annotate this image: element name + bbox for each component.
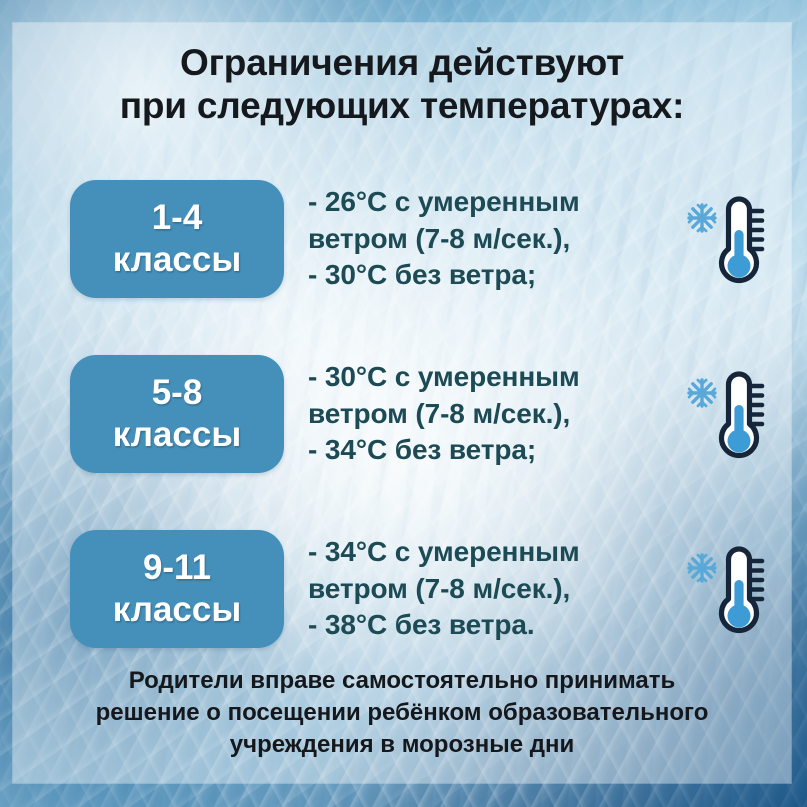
description-line: - 30°C с умеренным	[308, 359, 679, 395]
description-line: ветром (7-8 м/сек.),	[308, 396, 679, 432]
thermometer-snowflake-icon	[679, 362, 783, 466]
thermometer-glyph	[722, 549, 763, 631]
grade-word-label: классы	[113, 417, 241, 453]
description-line: - 34°C с умеренным	[308, 534, 679, 570]
thermometer-glyph	[722, 374, 763, 456]
description-line: - 34°C без ветра;	[308, 432, 679, 468]
description-line: ветром (7-8 м/сек.),	[308, 571, 679, 607]
grade-range-label: 1-4	[152, 200, 203, 236]
temperature-description-2: - 30°C с умеренным ветром (7-8 м/сек.), …	[284, 359, 679, 468]
temperature-description-3: - 34°C с умеренным ветром (7-8 м/сек.), …	[284, 534, 679, 643]
footer-note: Родители вправе самостоятельно принимать…	[13, 665, 791, 761]
description-line: - 38°C без ветра.	[308, 607, 679, 643]
snowflake-icon	[689, 555, 715, 581]
grade-badge-5-8[interactable]: 5-8 классы	[70, 355, 284, 473]
table-row: 1-4 классы - 26°C с умеренным ветром (7-…	[13, 165, 791, 313]
grade-range-label: 5-8	[152, 375, 203, 411]
grade-badge-9-11[interactable]: 9-11 классы	[70, 530, 284, 648]
thermometer-snowflake-icon	[679, 187, 783, 291]
footer-line-2: решение о посещении ребёнком образовател…	[27, 697, 777, 729]
snowflake-icon	[689, 380, 715, 406]
thermometer-glyph	[722, 199, 763, 281]
temperature-description-1: - 26°C с умеренным ветром (7-8 м/сек.), …	[284, 184, 679, 293]
snowflake-icon	[689, 205, 715, 231]
page-title-line-1: Ограничения действуют	[27, 41, 777, 84]
description-line: ветром (7-8 м/сек.),	[308, 221, 679, 257]
content-panel: Ограничения действуют при следующих темп…	[13, 23, 791, 783]
description-line: - 30°C без ветра;	[308, 257, 679, 293]
page-title: Ограничения действуют при следующих темп…	[13, 41, 791, 128]
grade-word-label: классы	[113, 592, 241, 628]
thermometer-snowflake-icon	[679, 537, 783, 641]
footer-line-3: учреждения в морозные дни	[27, 729, 777, 761]
description-line: - 26°C с умеренным	[308, 184, 679, 220]
temperature-rows: 1-4 классы - 26°C с умеренным ветром (7-…	[13, 165, 791, 663]
infographic-poster: Ограничения действуют при следующих темп…	[0, 0, 807, 807]
page-title-line-2: при следующих температурах:	[27, 84, 777, 127]
footer-line-1: Родители вправе самостоятельно принимать	[27, 665, 777, 697]
table-row: 5-8 классы - 30°C с умеренным ветром (7-…	[13, 340, 791, 488]
grade-range-label: 9-11	[143, 550, 211, 586]
grade-badge-1-4[interactable]: 1-4 классы	[70, 180, 284, 298]
table-row: 9-11 классы - 34°C с умеренным ветром (7…	[13, 515, 791, 663]
grade-word-label: классы	[113, 242, 241, 278]
